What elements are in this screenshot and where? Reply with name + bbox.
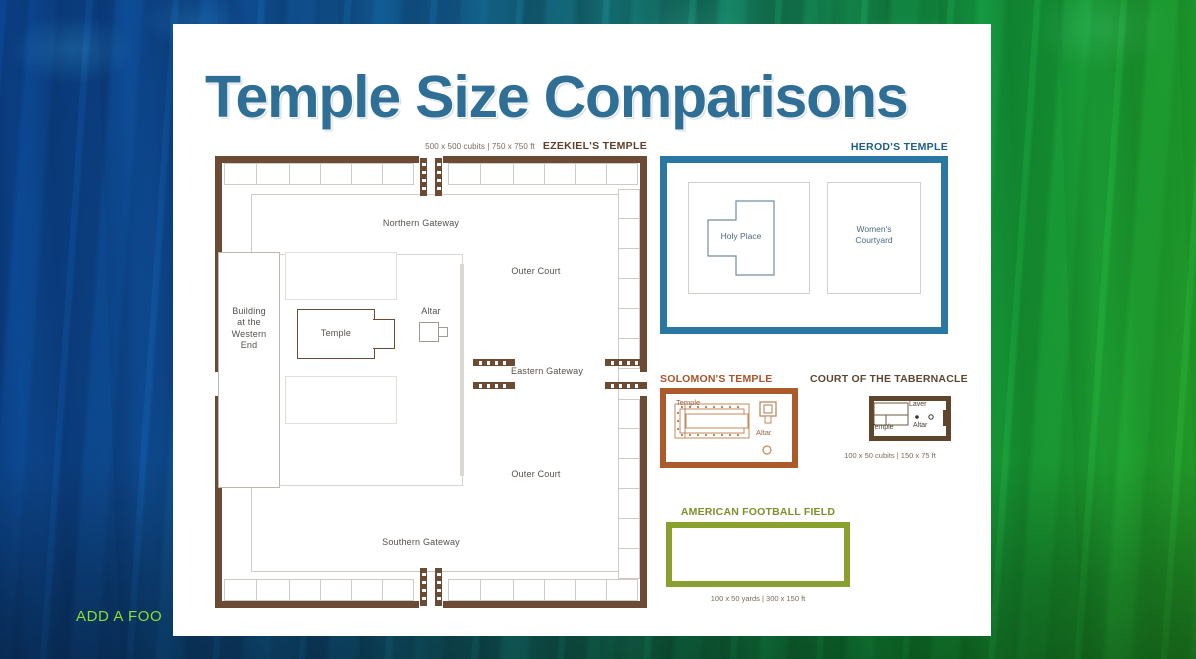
ezekiel-eastern-gateway-outer-bottom [605, 382, 647, 389]
ezekiel-northern-gateway-left [420, 158, 427, 196]
ezekiel-eastern-gateway-inner-top [473, 359, 515, 366]
ezekiel-western-building [218, 252, 280, 488]
ezekiel-wall-right-lower [640, 396, 647, 608]
ezekiel-chambers-right-lower [618, 399, 640, 579]
ezekiel-chambers-right-upper [618, 189, 640, 369]
ezekiel-temple-diagram: 500 x 500 cubits | 750 x 750 ft EZEKIEL'… [215, 156, 647, 608]
page-title: Temple Size Comparisons [205, 68, 959, 127]
ezekiel-chambers-bottom-right [448, 579, 638, 601]
herod-temple-diagram: HEROD'S TEMPLE Holy Place Women'sCourtya… [660, 156, 948, 334]
ezekiel-wall-top-right [443, 156, 647, 163]
football-field-diagram: AMERICAN FOOTBALL FIELD 100 x 50 yards |… [660, 522, 856, 614]
ezekiel-eastern-gateway-label: Eastern Gateway [511, 366, 611, 377]
footer-placeholder[interactable]: ADD A FOO [76, 608, 162, 625]
ezekiel-chambers-top-right [448, 163, 638, 185]
football-field-outline [666, 522, 850, 587]
ezekiel-western-building-label: Buildingat theWesternEnd [220, 306, 278, 351]
ezekiel-chamber-upper-3 [285, 252, 397, 300]
solomon-temple-diagram: SOLOMON'S TEMPLE [660, 388, 798, 468]
ezekiel-southern-gateway-right [435, 568, 442, 606]
ezekiel-chamber-lower-3 [285, 376, 397, 424]
ezekiel-northern-gateway-right [435, 158, 442, 196]
slide-viewer: ADD A FOO Temple Size Comparisons 500 x … [0, 0, 1196, 659]
ezekiel-title-label: EZEKIEL'S TEMPLE [543, 140, 647, 152]
ezekiel-chambers-top-left [224, 163, 414, 185]
ezekiel-wall-right-upper [640, 156, 647, 372]
ezekiel-chambers-bottom-left [224, 579, 414, 601]
tabernacle-title-label: COURT OF THE TABERNACLE [810, 373, 968, 385]
ezekiel-dimensions-label: 500 x 500 cubits | 750 x 750 ft [425, 142, 535, 151]
ezekiel-altar-ramp [439, 327, 448, 337]
herod-title-label: HEROD'S TEMPLE [851, 141, 948, 153]
ezekiel-temple-porch [373, 319, 395, 349]
ezekiel-altar-block [419, 322, 439, 342]
tabernacle-temple-label: Temple [871, 424, 894, 431]
football-title-label: AMERICAN FOOTBALL FIELD [660, 506, 856, 518]
ezekiel-eastern-gateway-inner-bottom [473, 382, 515, 389]
solomon-altar-label: Altar [756, 428, 771, 437]
slide-content-card: Temple Size Comparisons 500 x 500 cubits… [173, 24, 991, 636]
ezekiel-wall-bottom-left [215, 601, 419, 608]
ezekiel-altar-label: Altar [409, 306, 453, 317]
solomon-title-label: SOLOMON'S TEMPLE [660, 373, 772, 385]
herod-womens-courtyard-label: Women'sCourtyard [827, 224, 921, 246]
ezekiel-wall-bottom-right [443, 601, 647, 608]
ezekiel-inner-court-east-wall [460, 264, 464, 476]
tabernacle-altar-label: Altar [913, 422, 927, 429]
ezekiel-northern-gateway-label: Northern Gateway [331, 218, 511, 229]
tabernacle-laver-label: Laver [909, 401, 927, 408]
ezekiel-southern-gateway-left [420, 568, 427, 606]
ezekiel-temple-label: Temple [297, 328, 375, 339]
ezekiel-wall-top-left [215, 156, 419, 163]
herod-holy-place-label: Holy Place [707, 231, 775, 242]
tabernacle-court-diagram: COURT OF THE TABERNACLE Laver Temple Alt… [813, 388, 963, 476]
football-dimensions-label: 100 x 50 yards | 300 x 150 ft [660, 594, 856, 603]
ezekiel-outer-court-label-bottom: Outer Court [481, 469, 591, 480]
ezekiel-eastern-gateway-outer-top [605, 359, 647, 366]
ezekiel-header: 500 x 500 cubits | 750 x 750 ft EZEKIEL'… [425, 140, 647, 152]
tabernacle-dimensions-label: 100 x 50 cubits | 150 x 75 ft [825, 451, 955, 460]
ezekiel-southern-gateway-label: Southern Gateway [331, 537, 511, 548]
ezekiel-outer-court-label-top: Outer Court [481, 266, 591, 277]
solomon-temple-label: Temple [676, 398, 700, 407]
